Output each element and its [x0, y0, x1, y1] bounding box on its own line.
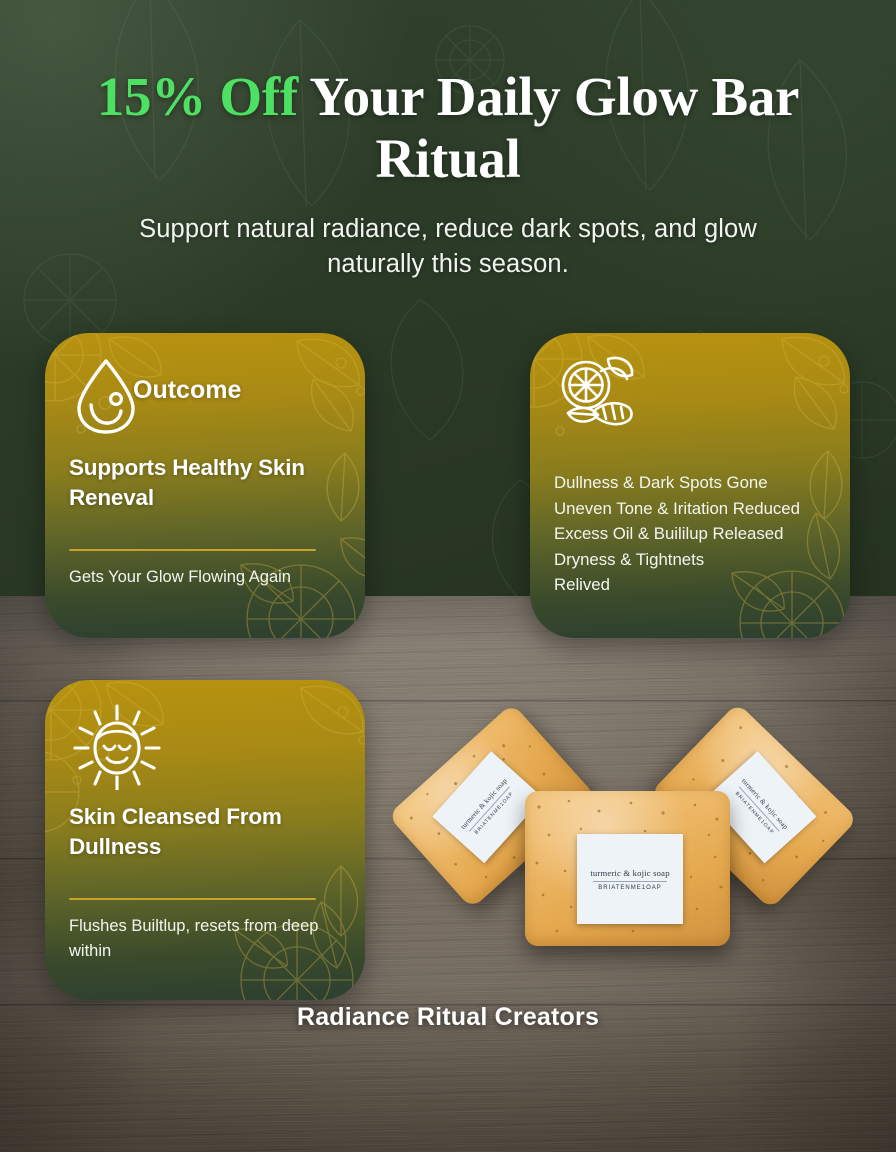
- list-item: Relived: [554, 572, 834, 598]
- card-divider: [69, 898, 316, 900]
- list-item: Uneven Tone & Iritation Reduced: [554, 496, 834, 522]
- discount-accent: 15% Off: [97, 66, 298, 127]
- card-subtitle: Flushes Builtlup, resets from deep withi…: [69, 914, 357, 964]
- header: 15% Off Your Daily Glow Bar Ritual Suppo…: [0, 0, 896, 282]
- card-title-outcome: Outcome: [133, 376, 241, 405]
- soap-bar-center: turmeric & kojic soap BRIATENME1OAP: [525, 791, 730, 946]
- list-item: Excess Oil & Buililup Released: [554, 521, 834, 547]
- label-line1: turmeric & kojic soap: [577, 868, 683, 878]
- card-divider: [69, 549, 316, 551]
- list-item: Dullness & Dark Spots Gone: [554, 470, 834, 496]
- poster-canvas: 15% Off Your Daily Glow Bar Ritual Suppo…: [0, 0, 896, 1152]
- soap-label-center: turmeric & kojic soap BRIATENME1OAP: [577, 834, 683, 924]
- card-subtitle: Gets Your Glow Flowing Again: [69, 565, 349, 590]
- citrus-turmeric-icon: [554, 353, 648, 440]
- brand-caption: Radiance Ritual Creators: [0, 1003, 896, 1032]
- feature-card-outcome[interactable]: Dullness & Dark Spots Gone Uneven Tone &…: [530, 333, 850, 638]
- subtitle: Support natural radiance, reduce dark sp…: [0, 212, 896, 282]
- label-line2: BRIATENME1OAP: [577, 885, 683, 891]
- outcome-list: Dullness & Dark Spots Gone Uneven Tone &…: [554, 470, 834, 598]
- feature-card-skin-cleansed[interactable]: Skin Cleansed From Dullness Flushes Buil…: [45, 680, 365, 1000]
- list-item: Dryness & Tightnets: [554, 547, 834, 573]
- headline-rest: Your Daily Glow Bar Ritual: [298, 66, 799, 189]
- page-title: 15% Off Your Daily Glow Bar Ritual: [0, 0, 896, 190]
- product-photo: turmeric & kojic soap BRIATENME1OAP: [400, 735, 860, 995]
- water-drop-smile-icon: [69, 355, 143, 440]
- card-title: Supports Healthy Skin Reneval: [69, 453, 337, 513]
- card-title: Skin Cleansed From Dullness: [69, 802, 337, 862]
- sun-face-icon: [69, 698, 165, 795]
